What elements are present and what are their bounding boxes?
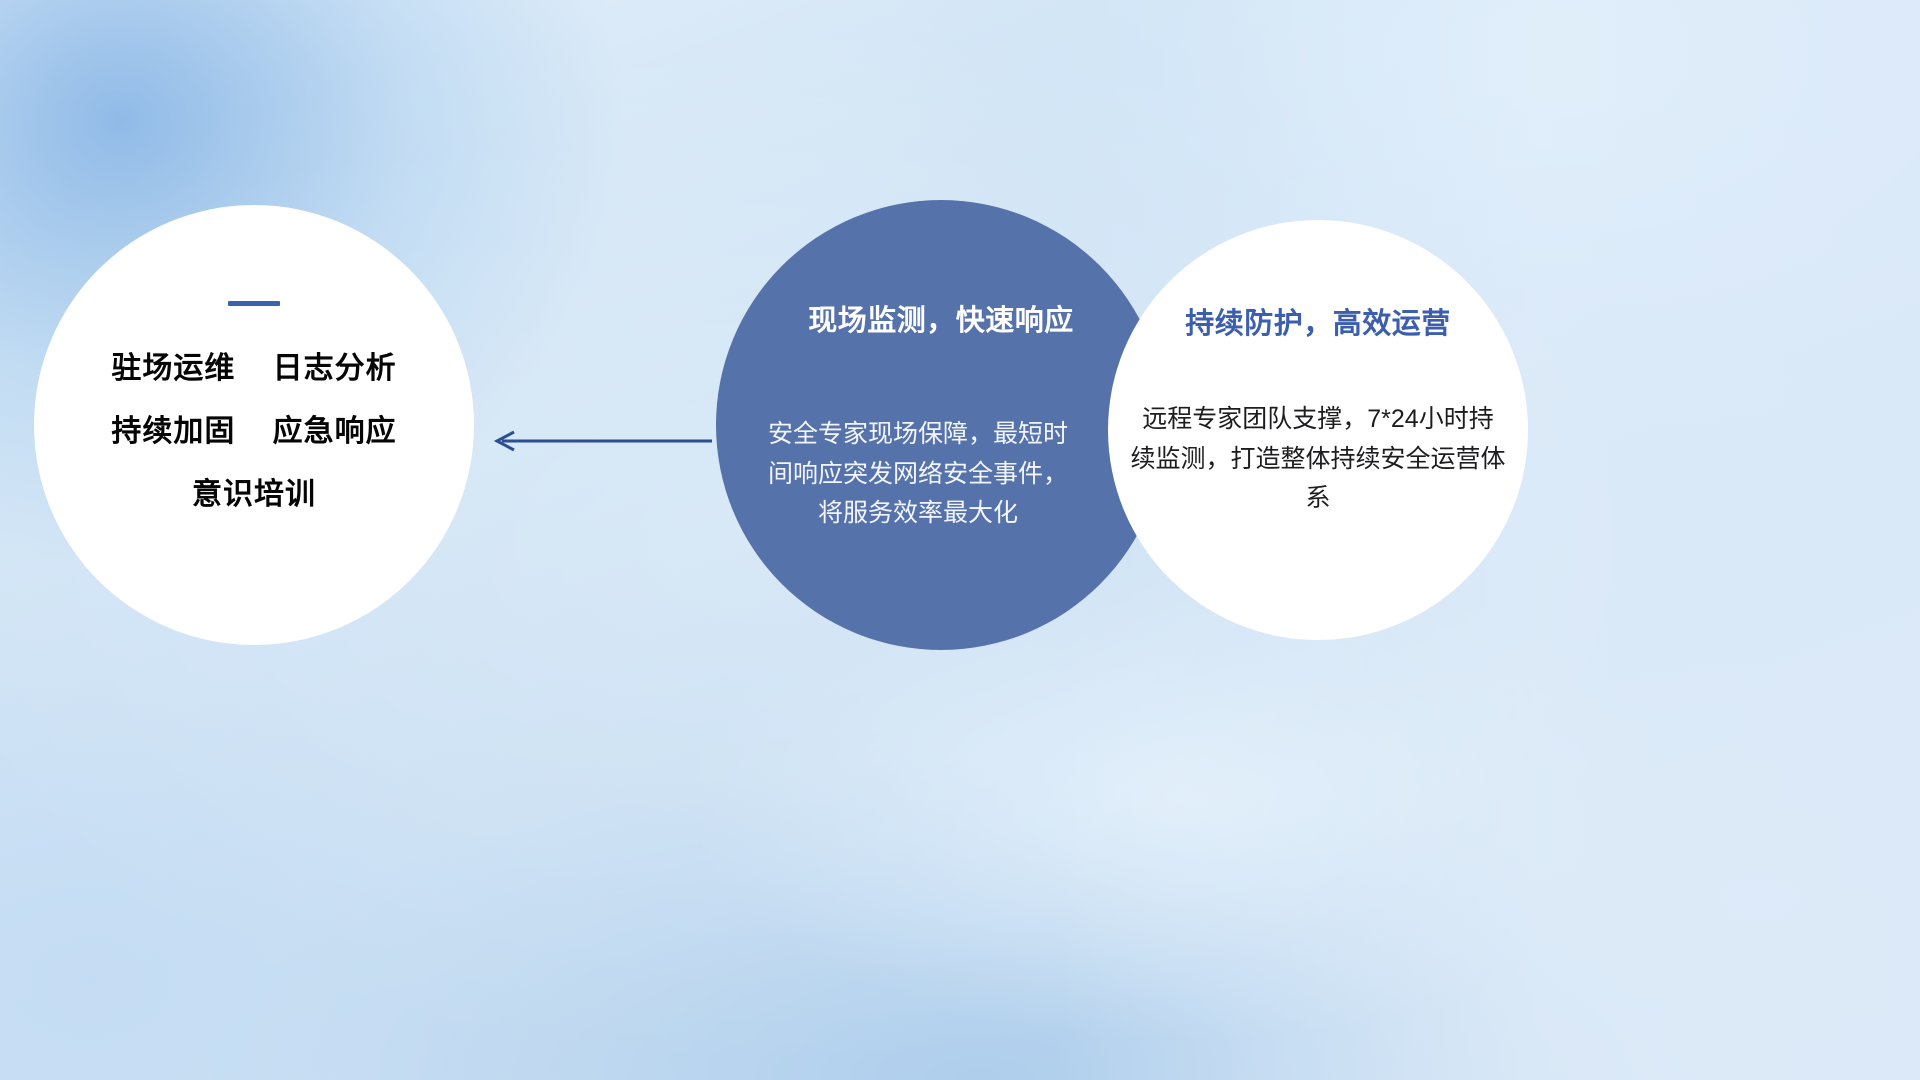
circle-services[interactable]: 驻场运维 日志分析 持续加固 应急响应 意识培训 <box>34 205 474 645</box>
onsite-body-text: 安全专家现场保障，最短时间响应突发网络安全事件，将服务效率最大化 <box>768 415 1068 534</box>
circle-continuous-protection[interactable]: 持续防护，高效运营 远程专家团队支撑，7*24小时持续监测，打造整体持续安全运营… <box>1108 220 1528 640</box>
continuous-headline: 持续防护，高效运营 <box>1118 300 1518 342</box>
continuous-body-text: 远程专家团队支撑，7*24小时持续监测，打造整体持续安全运营体系 <box>1130 400 1506 519</box>
flow-arrow-left-icon <box>488 424 713 458</box>
services-content: 驻场运维 日志分析 持续加固 应急响应 意识培训 <box>34 301 474 510</box>
services-line-1: 驻场运维 日志分析 <box>34 354 474 384</box>
slide-canvas: 驻场运维 日志分析 持续加固 应急响应 意识培训 安全专家现场保障，最短时间响应… <box>0 0 1920 1080</box>
accent-dash-divider <box>228 301 280 306</box>
onsite-headline-wrapper: 现场监测，快速响应 <box>740 297 1142 339</box>
services-line-3: 意识培训 <box>34 480 474 510</box>
circle-onsite-monitoring[interactable]: 安全专家现场保障，最短时间响应突发网络安全事件，将服务效率最大化 <box>716 200 1166 650</box>
onsite-headline: 现场监测，快速响应 <box>808 305 1074 337</box>
services-line-2: 持续加固 应急响应 <box>34 417 474 447</box>
